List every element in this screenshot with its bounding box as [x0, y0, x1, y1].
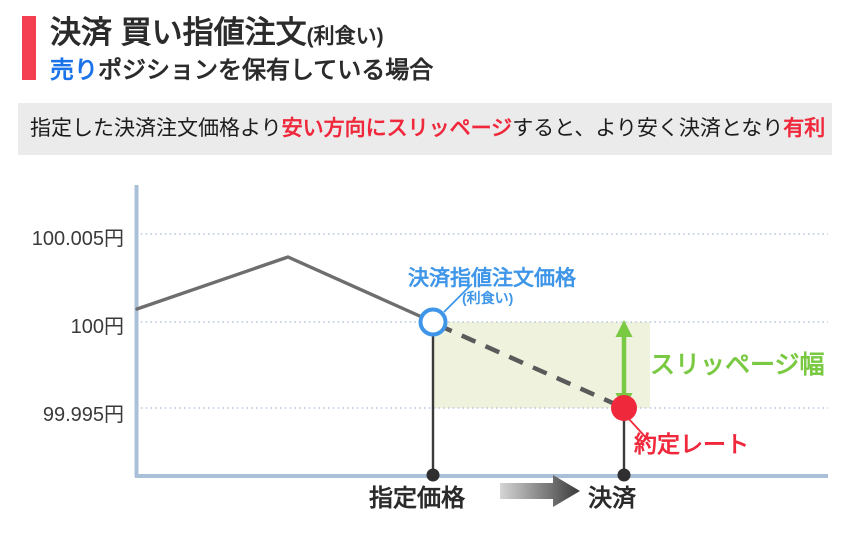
description-banner-text: 指定した決済注文価格より安い方向にスリッページすると、より安く決済となり有利 — [30, 116, 825, 142]
page-title-suffix: (利食い) — [307, 25, 384, 48]
slippage-chart: 100.005円 100円 99.995円 決済指値注文価格 (利食い) スリッ… — [0, 160, 850, 539]
banner-segment-2: すると、より安く決済となり — [512, 117, 783, 140]
order-price-annotation-sublabel: (利食い) — [462, 288, 513, 308]
execution-rate-annotation-label: 約定レート — [634, 425, 749, 459]
banner-segment-1: 安い方向にスリッページ — [282, 117, 513, 140]
page-subtitle: 売りポジションを保有している場合 — [50, 56, 433, 86]
execution-rate-marker-icon — [611, 395, 637, 421]
page-title-main: 決済 買い指値注文 — [50, 15, 307, 50]
banner-segment-3: 有利 — [783, 117, 825, 140]
page-title: 決済 買い指値注文(利食い) — [50, 14, 433, 56]
y-axis-label-100: 100円 — [71, 310, 124, 339]
slippage-diagram-page: 決済 買い指値注文(利食い) 売りポジションを保有している場合 指定した決済注文… — [0, 0, 850, 539]
description-banner: 指定した決済注文価格より安い方向にスリッページすると、より安く決済となり有利 — [18, 103, 832, 155]
y-axis-label-99995: 99.995円 — [43, 398, 124, 427]
accent-bar — [22, 16, 36, 80]
y-axis-label-100005: 100.005円 — [32, 222, 124, 251]
page-subtitle-rest: ポジションを保有している場合 — [98, 57, 433, 84]
order-price-marker-icon — [421, 310, 446, 335]
title-block: 決済 買い指値注文(利食い) 売りポジションを保有している場合 — [50, 14, 433, 86]
banner-segment-0: 指定した決済注文価格より — [30, 117, 282, 140]
flow-arrow-icon — [500, 475, 580, 507]
slippage-width-annotation-label: スリッページ幅 — [650, 345, 825, 381]
rate-line-solid — [137, 257, 433, 322]
x-axis-label-order-price: 指定価格 — [369, 478, 465, 513]
page-subtitle-highlight: 売り — [50, 57, 98, 84]
x-axis-label-settlement: 決済 — [588, 478, 636, 513]
page-header: 決済 買い指値注文(利食い) 売りポジションを保有している場合 — [22, 14, 828, 90]
